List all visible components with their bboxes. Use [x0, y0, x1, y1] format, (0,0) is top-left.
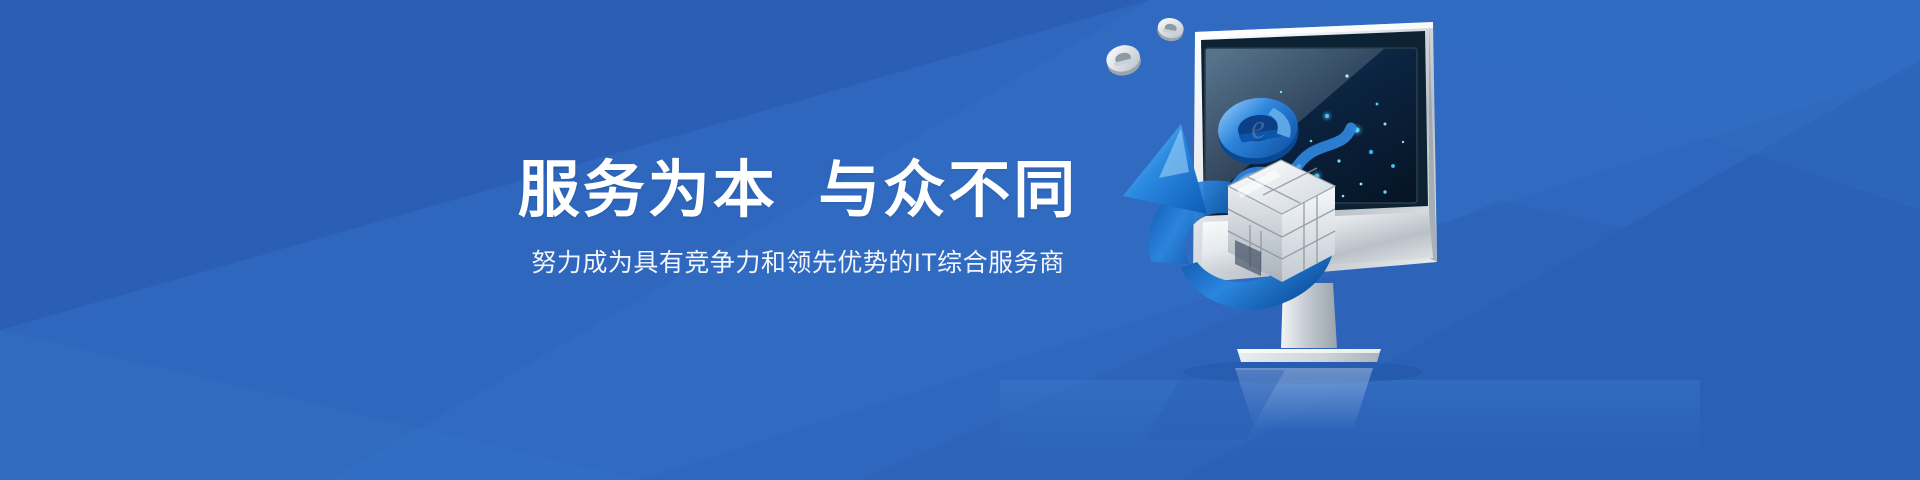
page-subtitle: 努力成为具有竞争力和领先优势的IT综合服务商 — [478, 247, 1118, 280]
white-e-logo-smaller — [1156, 16, 1186, 43]
monitor-reflection — [1145, 360, 1423, 440]
white-e-logo-small — [1103, 42, 1143, 79]
hero-banner: 服务为本 与众不同 努力成为具有竞争力和领先优势的IT综合服务商 — [0, 0, 1920, 480]
hero-artwork: e — [1085, 0, 1505, 480]
banner-copy: 服务为本 与众不同 努力成为具有竞争力和领先优势的IT综合服务商 — [478, 158, 1118, 279]
page-title: 服务为本 与众不同 — [478, 158, 1118, 225]
